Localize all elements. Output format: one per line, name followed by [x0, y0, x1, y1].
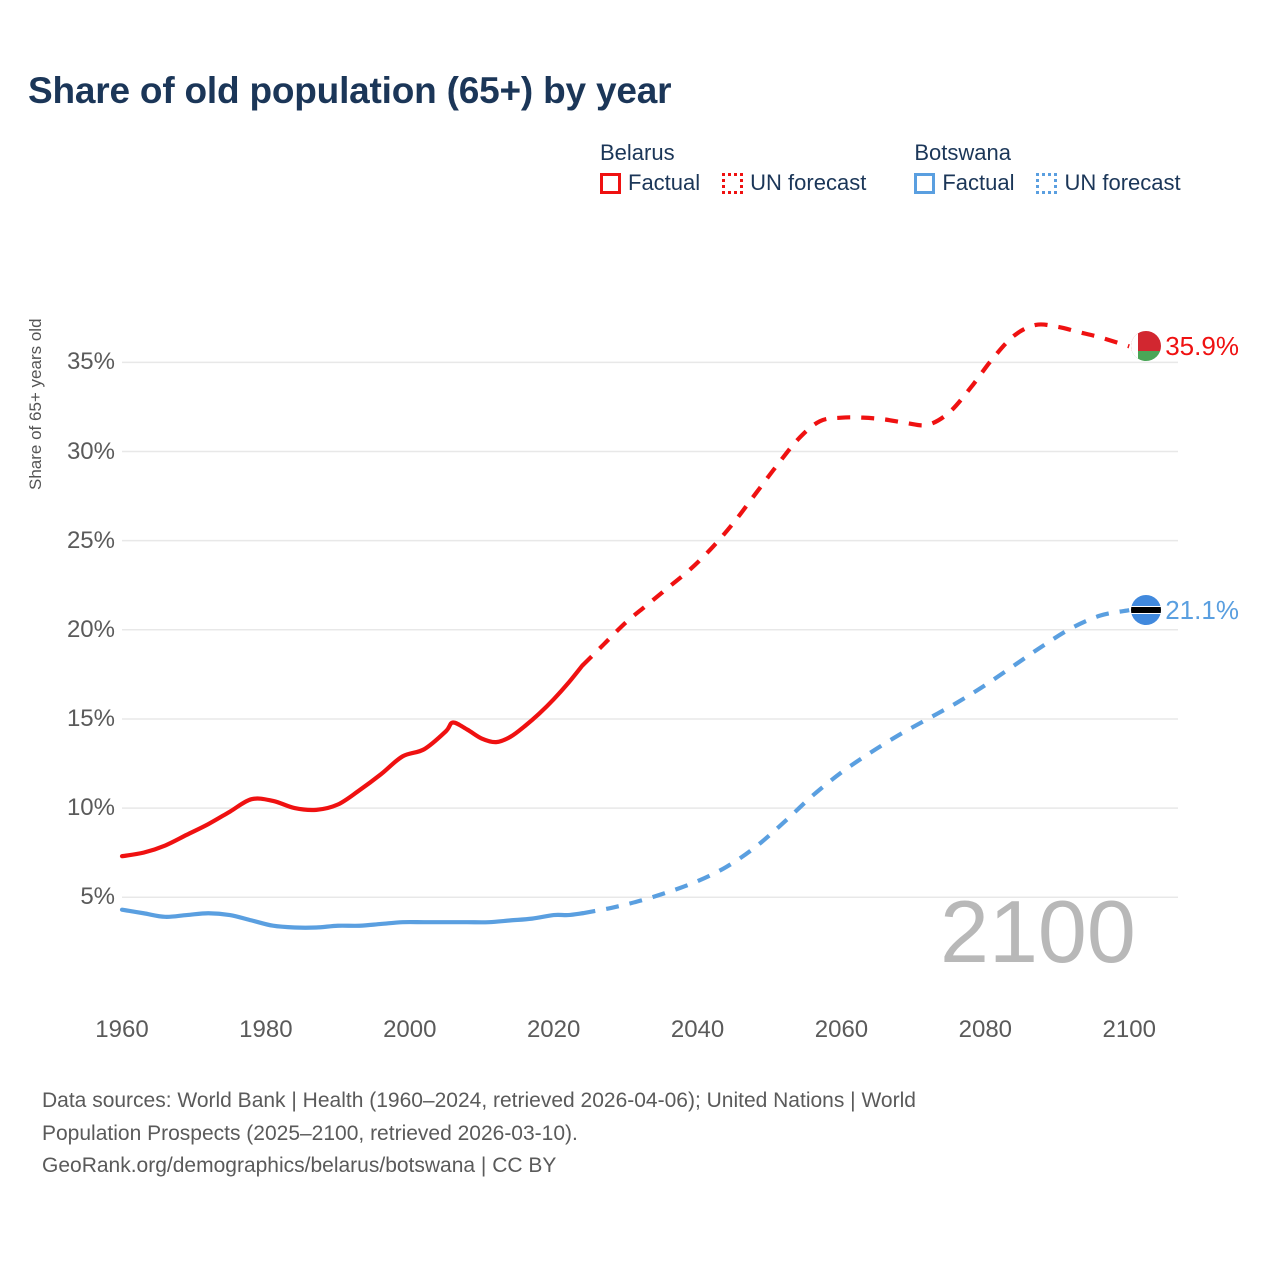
y-tick-label: 30%: [67, 438, 115, 466]
y-axis-ticks: 5%10%15%20%25%30%35%: [0, 0, 115, 1000]
chart-container: Share of old population (65+) by year Be…: [0, 0, 1280, 1280]
endpoint-value-botswana: 21.1%: [1165, 597, 1239, 623]
botswana-flag-icon: [1131, 595, 1161, 625]
x-tick-label: 2060: [815, 1016, 868, 1044]
x-tick-label: 2040: [671, 1016, 724, 1044]
footer-line-2: Population Prospects (2025–2100, retriev…: [42, 1118, 1192, 1151]
belarus-flag-icon: [1131, 331, 1161, 361]
endpoint-marker-belarus: 35.9%: [1131, 331, 1239, 361]
footer-line-3: GeoRank.org/demographics/belarus/botswan…: [42, 1150, 1192, 1183]
x-tick-label: 2020: [527, 1016, 580, 1044]
year-watermark: 2100: [940, 888, 1136, 976]
footer-line-1: Data sources: World Bank | Health (1960–…: [42, 1085, 1192, 1118]
x-tick-label: 1960: [95, 1016, 148, 1044]
x-tick-label: 2100: [1103, 1016, 1156, 1044]
x-tick-label: 2000: [383, 1016, 436, 1044]
x-tick-label: 2080: [959, 1016, 1012, 1044]
footer-sources: Data sources: World Bank | Health (1960–…: [42, 1085, 1192, 1183]
y-tick-label: 25%: [67, 527, 115, 555]
y-tick-label: 35%: [67, 348, 115, 376]
endpoint-value-belarus: 35.9%: [1165, 333, 1239, 359]
endpoint-marker-botswana: 21.1%: [1131, 595, 1239, 625]
y-tick-label: 10%: [67, 794, 115, 822]
y-tick-label: 20%: [67, 616, 115, 644]
x-tick-label: 1980: [239, 1016, 292, 1044]
y-tick-label: 15%: [67, 705, 115, 733]
y-tick-label: 5%: [80, 883, 115, 911]
